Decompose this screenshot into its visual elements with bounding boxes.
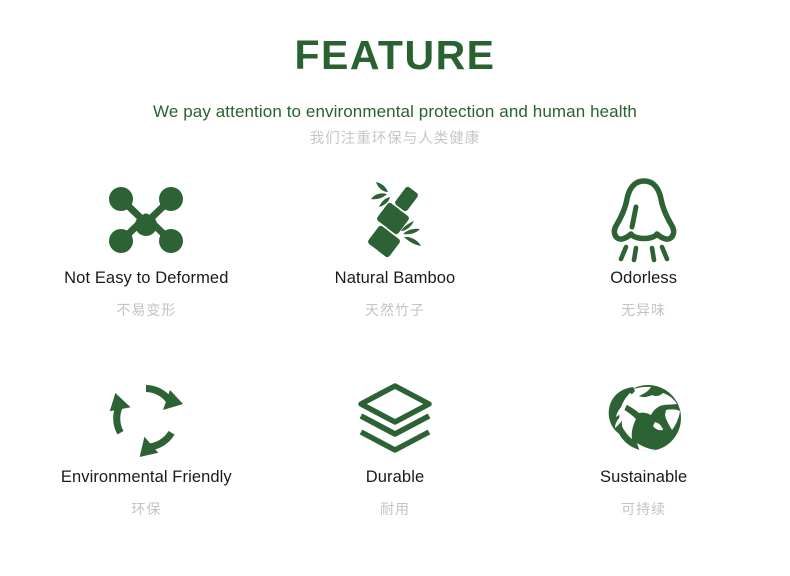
feature-item-sustainable: Sustainable 可持续 bbox=[519, 368, 768, 565]
feature-label-english: Not Easy to Deformed bbox=[64, 269, 228, 289]
feature-item-durable: Durable 耐用 bbox=[271, 368, 520, 565]
feature-label-english: Sustainable bbox=[600, 468, 687, 488]
nose-icon bbox=[607, 171, 681, 269]
subtitle-english: We pay attention to environmental protec… bbox=[0, 102, 790, 122]
subtitle-chinese: 我们注重环保与人类健康 bbox=[0, 131, 790, 148]
feature-label-chinese: 可持续 bbox=[621, 501, 666, 518]
feature-label-chinese: 耐用 bbox=[380, 501, 410, 518]
globe-leaf-icon bbox=[603, 368, 685, 468]
feature-item-environmental-friendly: Environmental Friendly 环保 bbox=[22, 368, 271, 565]
feature-section: FEATURE We pay attention to environmenta… bbox=[0, 0, 790, 576]
feature-label-english: Odorless bbox=[610, 269, 677, 289]
feature-label-english: Natural Bamboo bbox=[335, 269, 456, 289]
bamboo-icon bbox=[357, 171, 433, 269]
feature-label-english: Environmental Friendly bbox=[61, 468, 232, 488]
feature-label-chinese: 无异味 bbox=[621, 302, 666, 319]
page-title: FEATURE bbox=[0, 34, 790, 77]
feature-item-odorless: Odorless 无异味 bbox=[519, 171, 768, 368]
feature-item-natural-bamboo: Natural Bamboo 天然竹子 bbox=[271, 171, 520, 368]
recycle-icon bbox=[106, 368, 186, 468]
layers-icon bbox=[355, 368, 435, 468]
molecule-icon bbox=[107, 171, 185, 269]
feature-label-chinese: 环保 bbox=[131, 501, 161, 518]
feature-label-english: Durable bbox=[366, 468, 424, 488]
feature-label-chinese: 不易变形 bbox=[116, 302, 176, 319]
feature-grid: Not Easy to Deformed 不易变形 bbox=[0, 171, 790, 565]
feature-label-chinese: 天然竹子 bbox=[365, 302, 425, 319]
feature-item-not-easy-to-deformed: Not Easy to Deformed 不易变形 bbox=[22, 171, 271, 368]
section-header: FEATURE We pay attention to environmenta… bbox=[0, 0, 790, 149]
